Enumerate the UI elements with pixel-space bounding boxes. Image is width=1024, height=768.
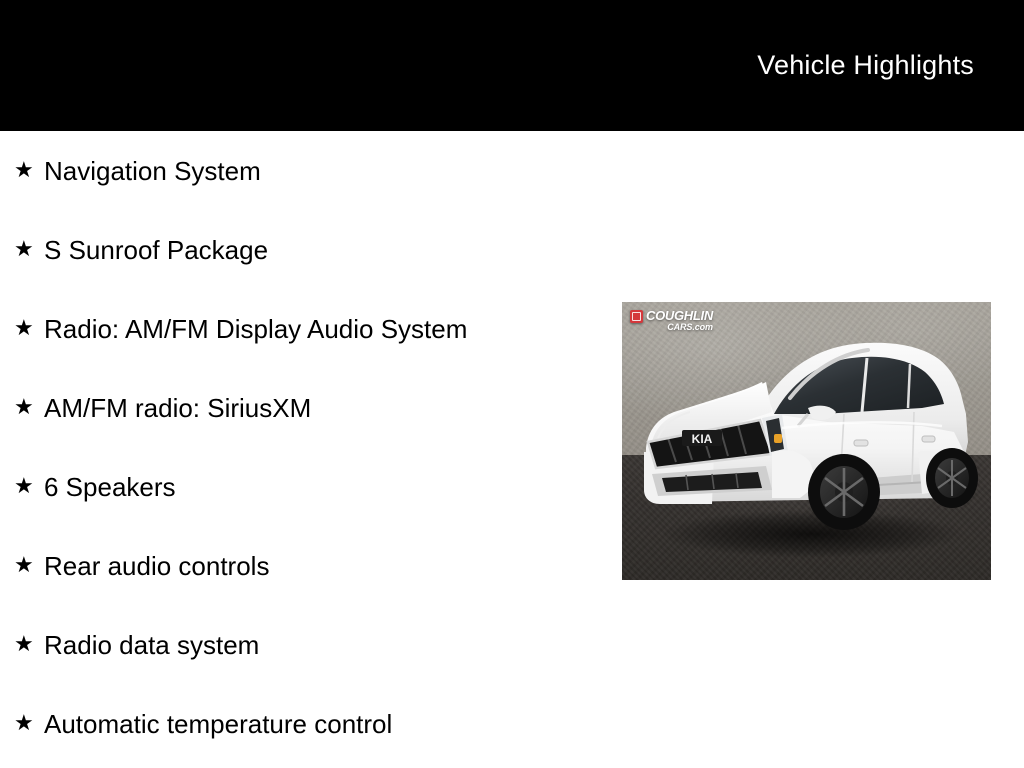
list-item: ★ Navigation System [0,155,620,234]
vehicle-photo: KIA [622,302,991,580]
watermark-dealer-site: CARS.com [646,323,713,332]
kia-badge-text: KIA [692,432,713,446]
star-bullet-icon: ★ [14,550,44,582]
star-bullet-icon: ★ [14,155,44,187]
star-bullet-icon: ★ [14,708,44,740]
front-wheel [808,454,880,530]
page-title: Vehicle Highlights [757,50,974,81]
list-item: ★ Rear audio controls [0,550,620,629]
coughlin-logo-icon [630,310,643,323]
highlight-label: Automatic temperature control [44,708,392,740]
star-bullet-icon: ★ [14,234,44,266]
header-banner: Vehicle Highlights [0,0,1024,131]
star-bullet-icon: ★ [14,392,44,424]
list-item: ★ S Sunroof Package [0,234,620,313]
highlight-label: Rear audio controls [44,550,269,582]
watermark-text-block: COUGHLIN CARS.com [646,309,713,332]
list-item: ★ Automatic temperature control [0,708,620,768]
kia-telluride-illustration: KIA [622,302,991,580]
dealer-watermark: COUGHLIN CARS.com [630,309,713,332]
highlight-label: Navigation System [44,155,261,187]
list-item: ★ 6 Speakers [0,471,620,550]
highlight-label: 6 Speakers [44,471,176,503]
highlight-label: S Sunroof Package [44,234,268,266]
star-bullet-icon: ★ [14,629,44,661]
list-item: ★ AM/FM radio: SiriusXM [0,392,620,471]
vehicle-highlights-list: ★ Navigation System ★ S Sunroof Package … [0,131,620,768]
highlight-label: Radio: AM/FM Display Audio System [44,313,467,345]
watermark-dealer-name: COUGHLIN [646,309,713,322]
star-bullet-icon: ★ [14,471,44,503]
vehicle-highlights-page: Vehicle Highlights ★ Navigation System ★… [0,0,1024,768]
rear-wheel [926,448,978,508]
star-bullet-icon: ★ [14,313,44,345]
highlight-label: Radio data system [44,629,259,661]
list-item: ★ Radio data system [0,629,620,708]
highlight-label: AM/FM radio: SiriusXM [44,392,311,424]
list-item: ★ Radio: AM/FM Display Audio System [0,313,620,392]
